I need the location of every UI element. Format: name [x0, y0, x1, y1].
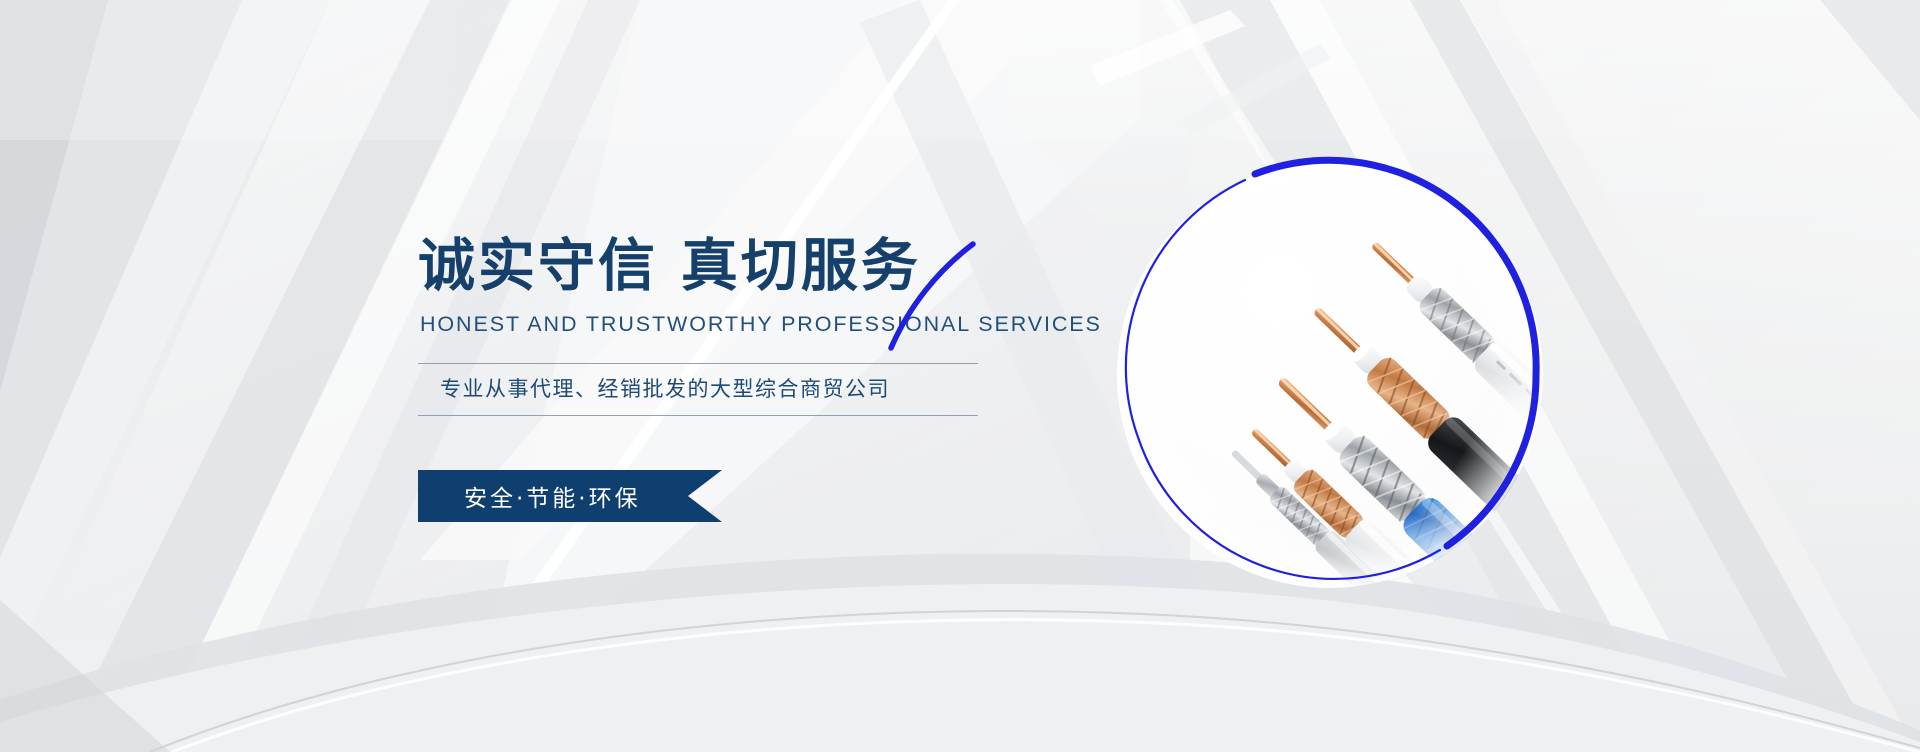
- accent-dash-icon: [877, 218, 1117, 418]
- product-showcase: [1095, 140, 1565, 610]
- ring-outline-icon: [1095, 140, 1565, 610]
- badge-label: 安全·节能·环保: [418, 479, 641, 513]
- status-badge: 安全·节能·环保: [418, 470, 722, 522]
- promotional-banner: 诚实守信 真切服务 HONEST AND TRUSTWORTHY PROFESS…: [0, 0, 1920, 752]
